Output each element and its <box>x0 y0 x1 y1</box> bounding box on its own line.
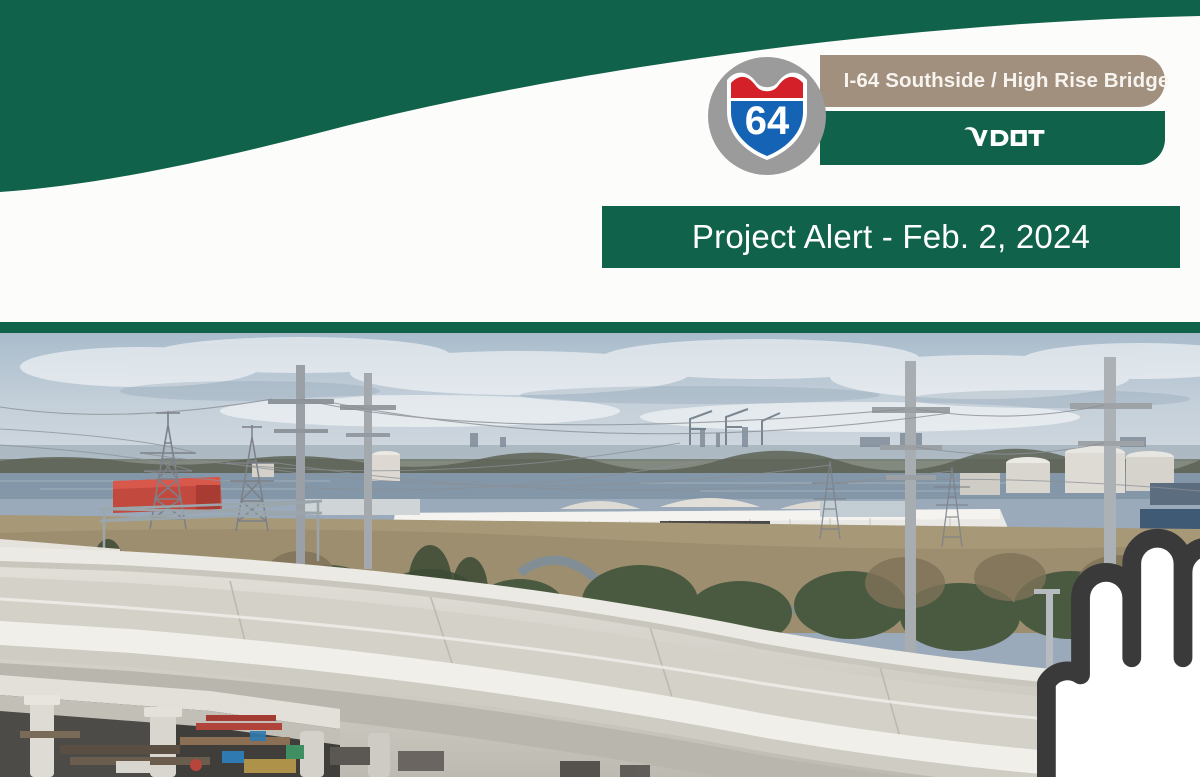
route-number-label: 64 <box>745 99 790 143</box>
agency-banner <box>820 111 1165 165</box>
page-title: Project Alert - Feb. 2, 2024 <box>692 218 1090 256</box>
interstate-shield-icon: 64 <box>705 55 830 177</box>
aerial-photo-high-rise-bridge <box>0 333 1200 777</box>
project-name-label: I-64 Southside / High Rise Bridge <box>816 69 1170 93</box>
project-alert-title-bar: Project Alert - Feb. 2, 2024 <box>602 206 1180 268</box>
project-name-banner: I-64 Southside / High Rise Bridge <box>820 55 1165 107</box>
vdot-logo <box>937 122 1049 154</box>
page-header: I-64 Southside / High Rise Bridge <box>0 0 1200 333</box>
project-alert-page: I-64 Southside / High Rise Bridge <box>0 0 1200 777</box>
header-divider <box>0 322 1200 333</box>
project-badge-cluster: I-64 Southside / High Rise Bridge <box>705 55 1175 177</box>
